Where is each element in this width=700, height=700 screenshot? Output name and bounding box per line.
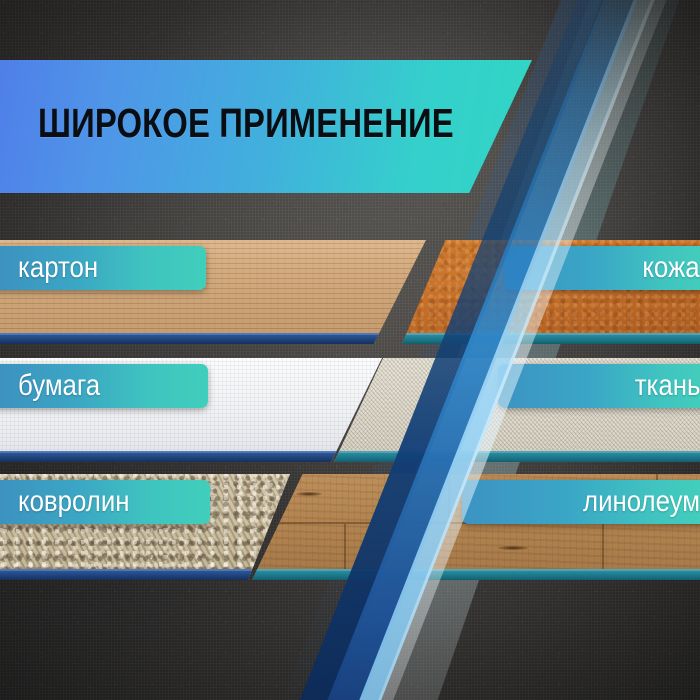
label-tag-cardboard: картон: [0, 246, 206, 290]
label-tag-paper: бумага: [0, 364, 208, 408]
label-tag-linoleum: линолеум: [462, 480, 700, 524]
label-tag-fabric: ткань: [498, 364, 700, 408]
material-row-paper-fabric: бумага ткань: [0, 358, 700, 462]
strip-edge-teal: [334, 451, 700, 462]
page-title: ШИРОКОЕ ПРИМЕНЕНИЕ: [38, 103, 454, 144]
infographic-canvas: ШИРОКОЕ ПРИМЕНЕНИЕ картон кожа бумага: [0, 0, 700, 700]
strip-edge-navy: [0, 569, 290, 580]
label-text-paper: бумага: [18, 371, 100, 401]
wood-knot: [498, 546, 528, 550]
strip-edge-teal: [402, 333, 700, 344]
label-text-leather: кожа: [643, 253, 700, 283]
material-row-cardboard-leather: картон кожа: [0, 240, 700, 344]
label-text-cardboard: картон: [18, 253, 98, 283]
label-text-carpet: ковролин: [18, 487, 129, 517]
label-text-fabric: ткань: [634, 371, 700, 401]
strip-edge-navy: [0, 451, 382, 462]
plank-seam: [448, 474, 450, 522]
strip-edge-teal: [252, 569, 700, 580]
wood-knot: [296, 492, 322, 496]
plank-seam: [602, 524, 604, 569]
plank-seam: [344, 524, 346, 569]
label-tag-carpet: ковролин: [0, 480, 210, 524]
material-row-carpet-linoleum: ковролин линолеум: [0, 474, 700, 580]
label-text-linoleum: линолеум: [583, 487, 700, 517]
label-tag-leather: кожа: [504, 246, 700, 290]
strip-edge-navy: [0, 333, 426, 344]
